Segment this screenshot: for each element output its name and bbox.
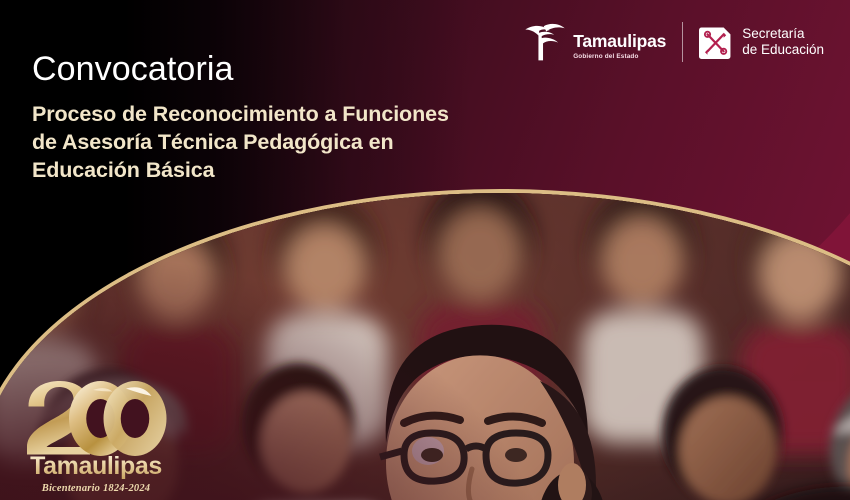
page-subtitle-line-1: Proceso de Reconocimiento a Funciones xyxy=(32,101,552,129)
logo-divider xyxy=(682,22,683,62)
bicentennial-200-numeral xyxy=(20,378,172,456)
tamaulipas-logo-name: Tamaulipas xyxy=(573,33,666,51)
page-subtitle-line-3: Educación Básica xyxy=(32,157,552,185)
page-title: Convocatoria xyxy=(32,52,552,88)
bicentennial-state-name: Tamaulipas xyxy=(20,454,172,479)
secretaria-wordmark: Secretaría de Educación xyxy=(742,26,824,58)
tamaulipas-logo-tagline: Gobierno del Estado xyxy=(573,54,666,60)
secretaria-educacion-logo: Secretaría de Educación xyxy=(699,24,824,60)
convocatoria-banner: Convocatoria Proceso de Reconocimiento a… xyxy=(0,0,850,500)
secretaria-line-1: Secretaría xyxy=(742,26,824,42)
page-subtitle: Proceso de Reconocimiento a Funciones de… xyxy=(32,101,552,185)
tamaulipas-t-mark xyxy=(524,22,566,62)
bicentennial-logo: Tamaulipas Bicentenario 1824-2024 xyxy=(20,378,172,494)
secretaria-line-2: de Educación xyxy=(742,42,824,58)
tamaulipas-government-logo: Tamaulipas Gobierno del Estado xyxy=(524,22,666,62)
bicentennial-caption: Bicentenario 1824-2024 xyxy=(20,483,172,494)
headline-block: Convocatoria Proceso de Reconocimiento a… xyxy=(32,52,552,185)
page-subtitle-line-2: de Asesoría Técnica Pedagógica en xyxy=(32,129,552,157)
tamaulipas-wordmark: Tamaulipas Gobierno del Estado xyxy=(573,33,666,62)
logo-lockup: Tamaulipas Gobierno del Estado Secretarí… xyxy=(524,22,824,62)
crossed-pencil-ruler-document-icon xyxy=(699,24,733,60)
